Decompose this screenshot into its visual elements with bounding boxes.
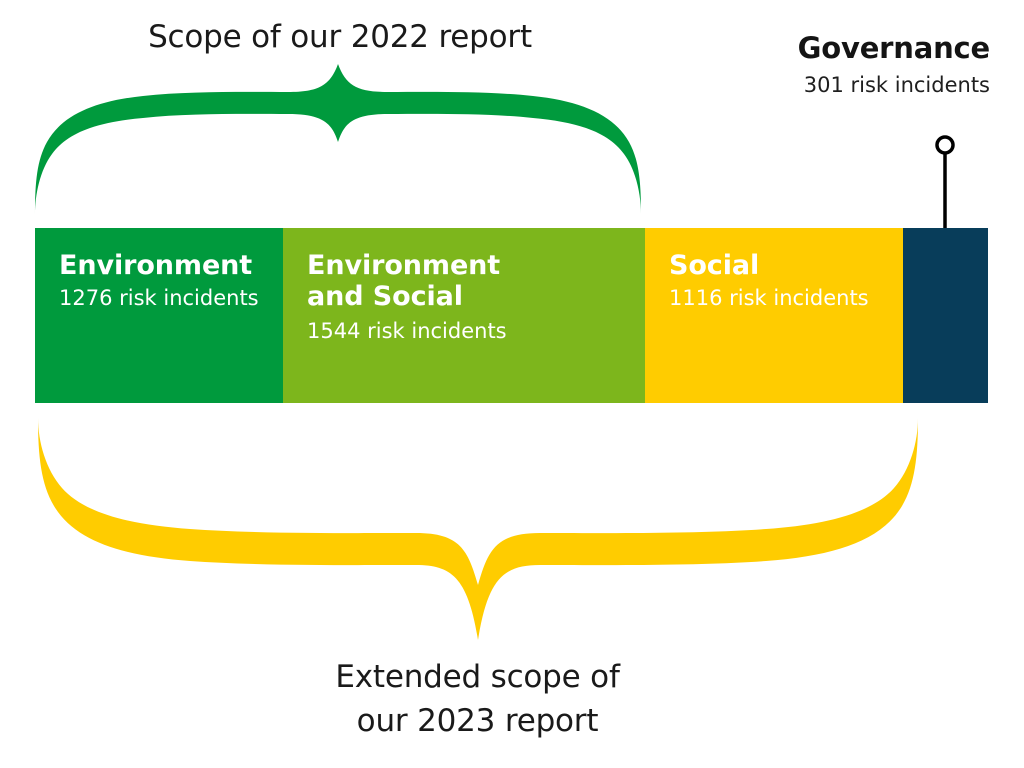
bar-segment-environment-value: 1276 risk incidents — [59, 285, 283, 312]
bar-segment-governance[interactable] — [903, 228, 988, 403]
stacked-bar: Environment 1276 risk incidents Environm… — [35, 228, 988, 403]
governance-pin-circle-icon — [937, 137, 953, 153]
bottom-scope-caption: Extended scope of our 2023 report — [0, 655, 955, 743]
top-scope-caption: Scope of our 2022 report — [0, 20, 680, 56]
bar-segment-environment[interactable]: Environment 1276 risk incidents — [35, 228, 283, 403]
governance-subtitle: 301 risk incidents — [690, 71, 990, 99]
bar-segment-environment-title: Environment — [59, 250, 283, 281]
bar-segment-environment-and-social[interactable]: Environment and Social 1544 risk inciden… — [283, 228, 645, 403]
infographic-canvas: Scope of our 2022 report Governance 301 … — [0, 0, 1024, 768]
bar-segment-environment-and-social-value: 1544 risk incidents — [307, 318, 645, 345]
scope-2023-brace-icon — [38, 418, 918, 640]
governance-title: Governance — [690, 32, 990, 64]
scope-2022-brace-icon — [35, 64, 641, 214]
bar-segment-social-title: Social — [669, 250, 903, 281]
bar-segment-environment-and-social-title: Environment and Social — [307, 250, 645, 313]
governance-callout: Governance 301 risk incidents — [690, 32, 990, 100]
bar-segment-social[interactable]: Social 1116 risk incidents — [645, 228, 903, 403]
bar-segment-social-value: 1116 risk incidents — [669, 285, 903, 312]
